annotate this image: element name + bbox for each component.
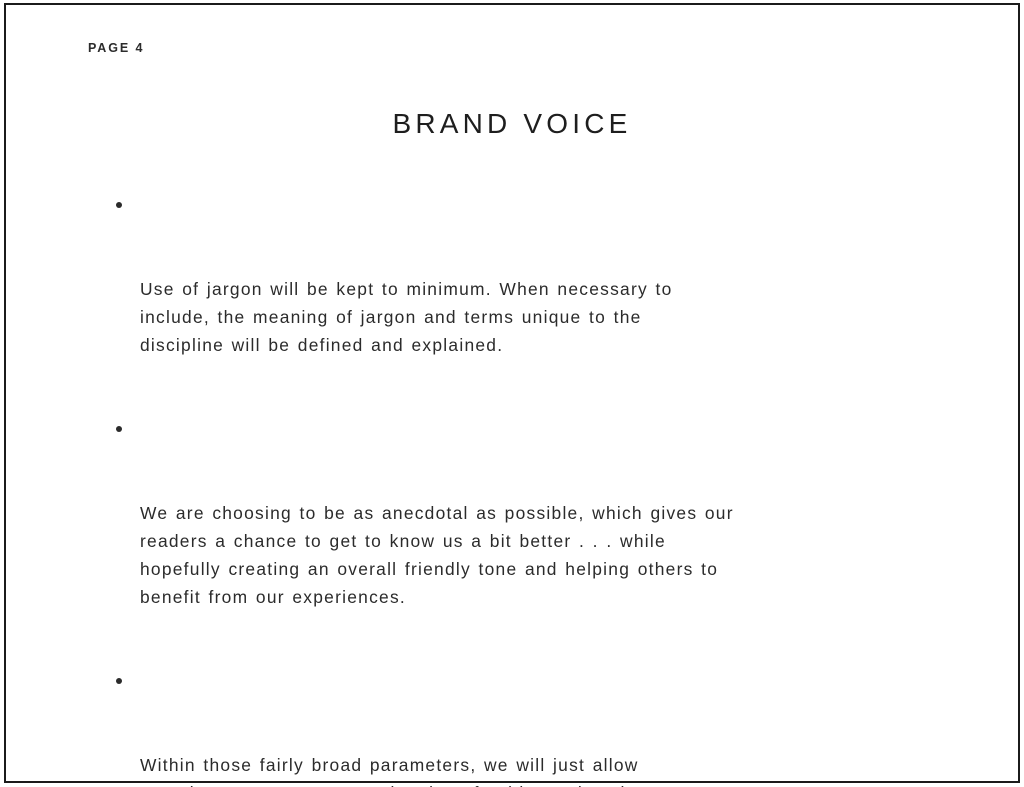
brand-voice-bullet-list: Use of jargon will be kept to minimum. W… — [110, 191, 960, 787]
list-item-text: Within those fairly broad parameters, we… — [140, 751, 960, 787]
page-title: BRAND VOICE — [6, 108, 1018, 140]
bullet-dot-icon — [116, 678, 122, 684]
slide-content-area: PAGE 4 BRAND VOICE Use of jargon will be… — [6, 5, 1018, 781]
list-item: Use of jargon will be kept to minimum. W… — [110, 191, 960, 415]
bullet-dot-icon — [116, 426, 122, 432]
page-number-label: PAGE 4 — [88, 41, 144, 55]
list-item: We are choosing to be as anecdotal as po… — [110, 415, 960, 667]
list-item-text: Use of jargon will be kept to minimum. W… — [140, 275, 960, 359]
slide-border-frame: PAGE 4 BRAND VOICE Use of jargon will be… — [4, 3, 1020, 783]
list-item: Within those fairly broad parameters, we… — [110, 667, 960, 787]
slide-canvas: PAGE 4 BRAND VOICE Use of jargon will be… — [0, 0, 1024, 787]
list-item-text: We are choosing to be as anecdotal as po… — [140, 499, 960, 611]
bullet-dot-icon — [116, 202, 122, 208]
